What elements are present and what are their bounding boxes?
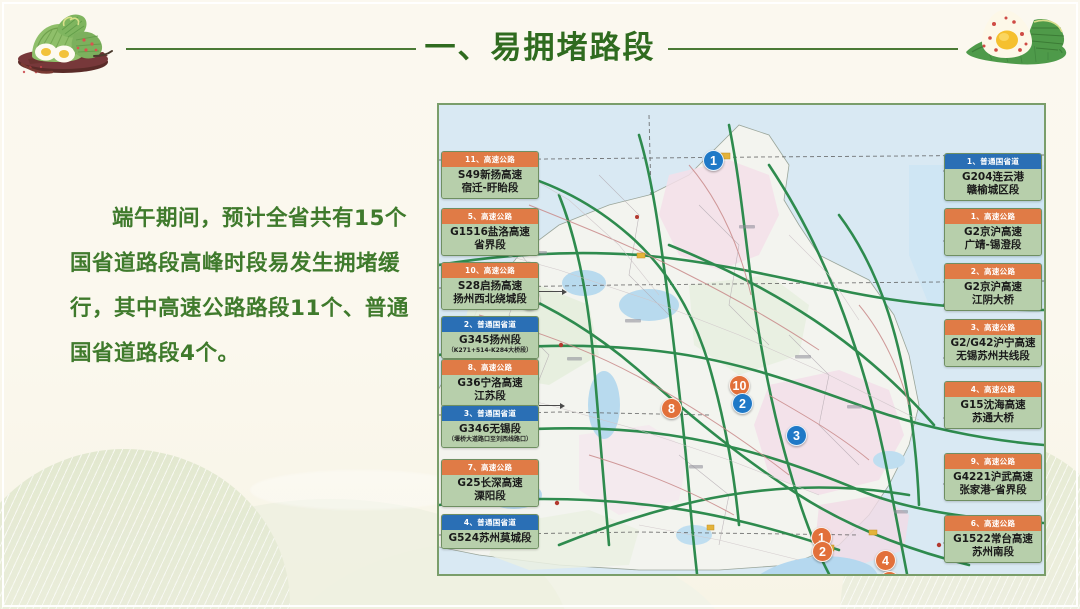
callout-body: G204连云港赣榆城区段: [945, 169, 1041, 200]
callout-left-0[interactable]: 11、高速公路S49新扬高速宿迁-盱眙段: [441, 151, 539, 199]
callout-subtext: （堰桥大道路口至刘西线路口）: [444, 436, 536, 444]
jiangsu-map[interactable]: 15111082312493764 11、高速公路S49新扬高速宿迁-盱眙段5、…: [437, 103, 1046, 576]
callout-right-4[interactable]: 4、高速公路G15沈海高速苏通大桥: [944, 381, 1042, 429]
callout-body: G345扬州段（K271+514-K284大桥段）: [442, 332, 538, 358]
map-marker-3[interactable]: 3: [786, 425, 807, 446]
callout-subtext: （K271+514-K284大桥段）: [444, 347, 536, 355]
callout-left-1[interactable]: 5、高速公路G1516盐洛高速省界段: [441, 208, 539, 256]
leader-line: [539, 291, 563, 292]
callout-body: G2/G42沪宁高速无锡苏州共线段: [945, 335, 1041, 366]
callout-left-5[interactable]: 3、普通国省道G346无锡段（堰桥大道路口至刘西线路口）: [441, 405, 539, 448]
slide-canvas: 一、易拥堵路段: [0, 0, 1080, 609]
slide-header: 一、易拥堵路段: [0, 0, 1080, 96]
callout-header: 7、高速公路: [442, 460, 538, 475]
callout-right-5[interactable]: 9、高速公路G4221沪武高速张家港-省界段: [944, 453, 1042, 501]
map-marker-2[interactable]: 2: [812, 541, 833, 562]
callout-header: 1、普通国省道: [945, 154, 1041, 169]
callout-header: 10、高速公路: [442, 263, 538, 278]
callout-header: 4、高速公路: [945, 382, 1041, 397]
callout-body: G524苏州莫城段: [442, 530, 538, 548]
callout-body: S49新扬高速宿迁-盱眙段: [442, 167, 538, 198]
callout-right-1[interactable]: 1、高速公路G2京沪高速广靖-锡澄段: [944, 208, 1042, 256]
callout-header: 3、高速公路: [945, 320, 1041, 335]
callout-body: G1516盐洛高速省界段: [442, 224, 538, 255]
callout-header: 4、普通国省道: [442, 515, 538, 530]
callout-body: G346无锡段（堰桥大道路口至刘西线路口）: [442, 421, 538, 447]
callout-right-6[interactable]: 6、高速公路G1522常台高速苏州南段: [944, 515, 1042, 563]
page-title: 一、易拥堵路段: [0, 22, 1080, 67]
callout-header: 2、普通国省道: [442, 317, 538, 332]
map-marker-1[interactable]: 1: [703, 150, 724, 171]
callout-body: G1522常台高速苏州南段: [945, 531, 1041, 562]
callout-body: G2京沪高速江阴大桥: [945, 279, 1041, 310]
callout-right-0[interactable]: 1、普通国省道G204连云港赣榆城区段: [944, 153, 1042, 201]
zongzi-leaf-icon: [962, 0, 1072, 76]
map-marker-4[interactable]: 4: [875, 550, 896, 571]
map-marker-8[interactable]: 8: [661, 398, 682, 419]
zongzi-plate-icon: [8, 4, 114, 82]
callout-body: G2京沪高速广靖-锡澄段: [945, 224, 1041, 255]
callout-header: 9、高速公路: [945, 454, 1041, 469]
callout-body: G15沈海高速苏通大桥: [945, 397, 1041, 428]
map-marker-2[interactable]: 2: [732, 393, 753, 414]
callout-header: 5、高速公路: [442, 209, 538, 224]
callout-right-3[interactable]: 3、高速公路G2/G42沪宁高速无锡苏州共线段: [944, 319, 1042, 367]
decor-hill-left: [0, 449, 290, 609]
callout-body: G4221沪武高速张家港-省界段: [945, 469, 1041, 500]
callout-header: 2、高速公路: [945, 264, 1041, 279]
callout-header: 3、普通国省道: [442, 406, 538, 421]
callout-left-4[interactable]: 8、高速公路G36宁洛高速江苏段: [441, 359, 539, 407]
callout-right-2[interactable]: 2、高速公路G2京沪高速江阴大桥: [944, 263, 1042, 311]
callout-left-3[interactable]: 2、普通国省道G345扬州段（K271+514-K284大桥段）: [441, 316, 539, 359]
callout-left-6[interactable]: 7、高速公路G25长深高速溧阳段: [441, 459, 539, 507]
callout-header: 11、高速公路: [442, 152, 538, 167]
callout-left-2[interactable]: 10、高速公路S28启扬高速扬州西北绕城段: [441, 262, 539, 310]
callout-body: G25长深高速溧阳段: [442, 475, 538, 506]
leader-line: [539, 405, 561, 406]
callout-header: 1、高速公路: [945, 209, 1041, 224]
callout-header: 6、高速公路: [945, 516, 1041, 531]
callout-body: G36宁洛高速江苏段: [442, 375, 538, 406]
callout-body: S28启扬高速扬州西北绕城段: [442, 278, 538, 309]
body-paragraph: 端午期间，预计全省共有15个国省道路段高峰时段易发生拥堵缓行，其中高速公路路段1…: [70, 196, 410, 376]
callout-left-7[interactable]: 4、普通国省道G524苏州莫城段: [441, 514, 539, 549]
callout-header: 8、高速公路: [442, 360, 538, 375]
